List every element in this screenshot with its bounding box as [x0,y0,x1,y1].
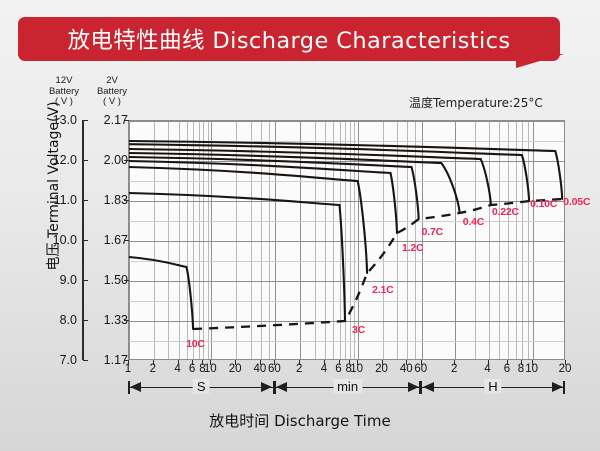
x-unit-arrow-right [261,382,272,392]
y-tick-mark [124,240,129,241]
page-title: 放电特性曲线 Discharge Characteristics [67,23,510,55]
y-tick-mark [124,200,129,201]
page-root: 放电特性曲线 Discharge Characteristics 12VBatt… [0,0,600,451]
x-tick-mark [357,360,358,365]
x-unit-label: S [193,379,210,394]
plot-area [128,120,565,360]
rate-label-0-05C: 0.05C [563,196,590,208]
x-tick-mark [299,360,300,365]
title-banner-body: 放电特性曲线 Discharge Characteristics [18,17,560,61]
x-tick-mark [339,360,340,365]
x-tick-mark [565,360,566,365]
y-tick-mark [83,200,88,201]
y-tick-label: 13.0 [30,113,77,127]
cutoff-voltage-envelope [193,199,562,329]
discharge-curve-2-1C [129,167,367,273]
x-tick-mark [178,360,179,365]
rate-label-3C: 3C [352,324,365,336]
x-unit-cap [563,381,565,394]
rate-label-2-1C: 2.1C [372,284,393,296]
x-tick-mark [153,360,154,365]
rate-label-10C: 10C [186,338,205,350]
y-tick-label: 7.0 [30,353,77,367]
x-tick-mark [235,360,236,365]
x-tick-mark [260,360,261,365]
x-unit-arrow-right [552,382,563,392]
y-tick-mark [124,120,129,121]
x-unit-arrow-left [423,382,434,392]
curve-layer [129,121,565,360]
y-tick-label: 11.0 [30,193,77,207]
y-tick-label: 1.50 [86,273,128,287]
y-tick-mark [124,320,129,321]
x-unit-layer: SminH [0,378,600,400]
x-tick-mark [274,360,275,365]
y-tick-mark [83,160,88,161]
x-tick-mark [324,360,325,365]
x-unit-arrow-left [276,382,287,392]
rate-label-0-4C: 0.4C [463,216,484,228]
axis-header-2v: 2VBattery( V ) [90,76,134,108]
discharge-chart: 12VBattery( V ) 2VBattery( V ) 电压 Termin… [0,66,600,451]
x-tick-mark [532,360,533,365]
y-tick-label: 1.67 [86,233,128,247]
x-tick-mark [507,360,508,365]
y-tick-mark [83,320,88,321]
y-tick-label: 9.0 [30,273,77,287]
discharge-curve-3C [129,193,345,321]
x-tick-mark [382,360,383,365]
y-tick-label: 1.33 [86,313,128,327]
y-tick-label: 2.00 [86,153,128,167]
discharge-curve-10C [129,257,193,329]
temperature-annotation: 温度Temperature:25°C [409,94,543,111]
y-tick-mark [83,360,88,361]
x-tick-mark [421,360,422,365]
x-tick-mark [192,360,193,365]
y-tick-label: 1.17 [86,353,128,367]
y-tick-mark [83,280,88,281]
y-tick-label: 12.0 [30,153,77,167]
y-tick-mark [83,120,88,121]
y-tick-mark [83,240,88,241]
x-tick-mark [128,360,129,365]
discharge-curve-1-2C [129,161,397,233]
x-unit-label: H [484,379,501,394]
x-unit-arrow-right [408,382,419,392]
rate-label-0-22C: 0.22C [492,206,519,218]
y-tick-mark [124,280,129,281]
x-tick-mark [521,360,522,365]
x-tick-mark [488,360,489,365]
rate-label-1-2C: 1.2C [402,242,423,254]
x-tick-mark [454,360,455,365]
y-tick-label: 8.0 [30,313,77,327]
rate-label-0-10C: 0.10C [530,198,557,210]
x-unit-label: min [333,379,362,394]
title-banner: 放电特性曲线 Discharge Characteristics [18,17,582,63]
x-unit-arrow-left [130,382,141,392]
x-tick-mark [210,360,211,365]
y-axis-title: 电压 Terminal Voltage(V) [43,71,63,301]
y-tick-label: 10.0 [30,233,77,247]
x-axis-title: 放电时间 Discharge Time [0,410,600,431]
y-tick-label: 2.17 [86,113,128,127]
x-tick-mark [406,360,407,365]
y-tick-mark [124,160,129,161]
rate-label-0-7C: 0.7C [422,226,443,238]
y-tick-label: 1.83 [86,193,128,207]
